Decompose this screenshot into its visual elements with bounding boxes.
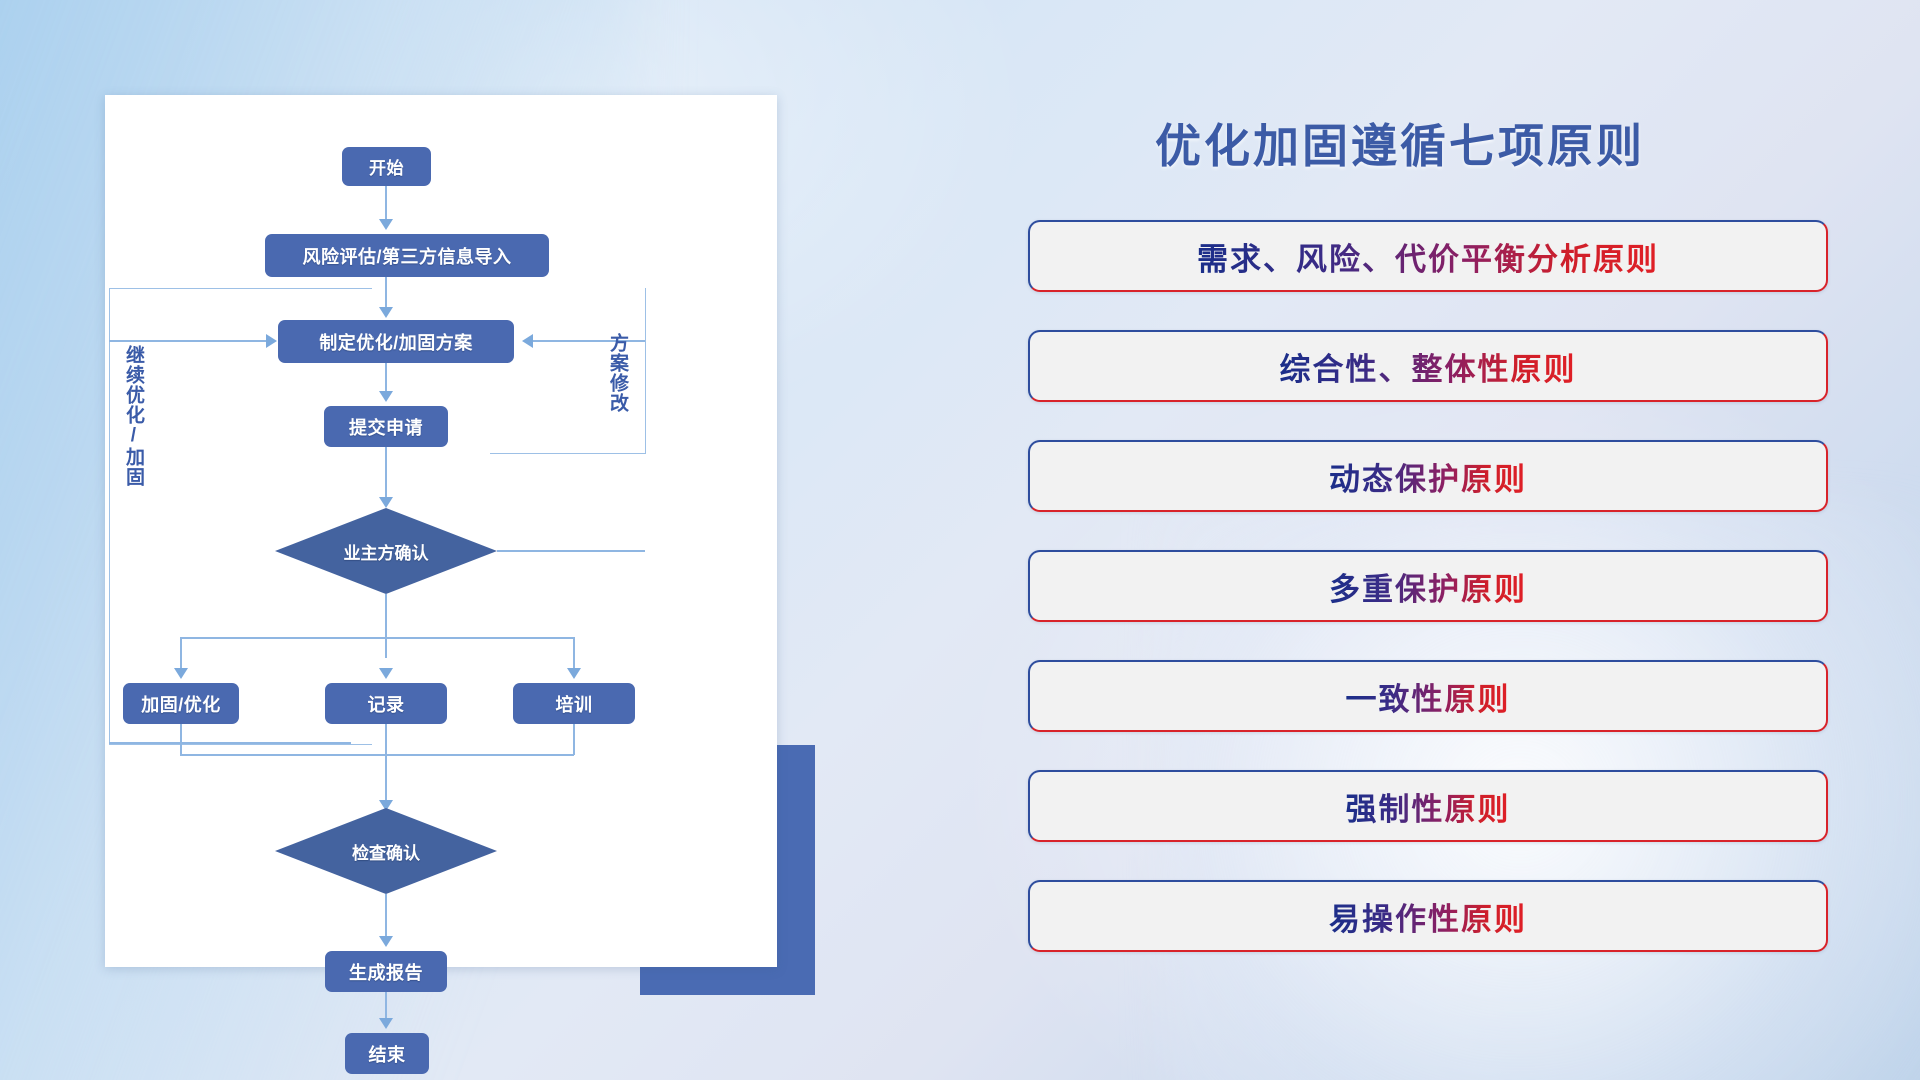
edge-merge-three-tasks: [180, 754, 574, 756]
principle-label: 易操作性原则: [1329, 894, 1527, 939]
node-record-label: 记录: [368, 691, 405, 717]
principle-item[interactable]: 动态保护原则: [1028, 440, 1828, 512]
node-submit-application-label: 提交申请: [349, 414, 423, 440]
node-submit-application[interactable]: 提交申请: [324, 406, 448, 447]
edge-split-three-tasks: [180, 637, 574, 639]
arrow-report-to-end: [379, 1018, 393, 1029]
edge-submit-to-confirm: [385, 447, 387, 501]
principle-label: 一致性原则: [1346, 674, 1511, 719]
slide-canvas: 开始 风险评估/第三方信息导入 制定优化/加固方案: [0, 0, 1920, 1080]
edge-merge-to-check: [385, 724, 387, 804]
arrow-to-record: [379, 668, 393, 679]
node-reinforce-optimize[interactable]: 加固/优化: [123, 683, 239, 724]
principle-item[interactable]: 易操作性原则: [1028, 880, 1828, 952]
arrow-to-reinforce: [174, 668, 188, 679]
edge-left-loop-into-plan: [109, 340, 266, 342]
arrow-risk-to-plan: [379, 307, 393, 318]
principles-list: 需求、风险、代价平衡分析原则 综合性、整体性原则 动态保护原则 多重保护原则 一…: [1028, 220, 1828, 990]
decision-owner-confirm[interactable]: 业主方确认: [275, 508, 497, 594]
edge-risk-to-plan: [385, 277, 387, 311]
edge-split-left-drop: [180, 637, 182, 672]
node-start[interactable]: 开始: [342, 147, 431, 186]
node-risk-assessment[interactable]: 风险评估/第三方信息导入: [265, 234, 549, 277]
principles-panel: 优化加固遵循七项原则 需求、风险、代价平衡分析原则 综合性、整体性原则 动态保护…: [1000, 100, 1860, 1000]
node-make-plan[interactable]: 制定优化/加固方案: [278, 320, 514, 363]
panel-title: 优化加固遵循七项原则: [1155, 110, 1645, 176]
arrow-check-to-report: [379, 936, 393, 947]
principle-label: 强制性原则: [1346, 784, 1511, 829]
edge-reinforce-down: [180, 724, 182, 755]
principle-item[interactable]: 多重保护原则: [1028, 550, 1828, 622]
node-make-plan-label: 制定优化/加固方案: [319, 329, 473, 355]
node-generate-report-label: 生成报告: [349, 959, 423, 985]
node-reinforce-optimize-label: 加固/优化: [141, 691, 221, 717]
flowchart-card: 开始 风险评估/第三方信息导入 制定优化/加固方案: [105, 95, 777, 967]
edge-training-down: [573, 724, 575, 755]
edge-label-plan-revision: 方案修改: [607, 333, 627, 413]
edge-check-to-report: [385, 894, 387, 940]
edge-confirm-to-right-loop: [497, 550, 645, 552]
arrow-left-loop-into-plan: [266, 334, 277, 348]
node-training-label: 培训: [556, 691, 593, 717]
edge-label-continue-optimize: 继续优化/加固: [123, 345, 143, 487]
arrow-start-to-risk: [379, 219, 393, 230]
decision-check-label: 检查确认: [275, 808, 497, 894]
edge-split-right-drop: [573, 637, 575, 672]
flowchart-diagram: 开始 风险评估/第三方信息导入 制定优化/加固方案: [105, 95, 777, 967]
principle-item[interactable]: 综合性、整体性原则: [1028, 330, 1828, 402]
node-record[interactable]: 记录: [325, 683, 447, 724]
arrow-plan-to-submit: [379, 391, 393, 402]
edge-start-to-risk: [385, 186, 387, 223]
principle-label: 综合性、整体性原则: [1280, 344, 1577, 389]
node-end-label: 结束: [369, 1041, 406, 1067]
edge-check-left-return: [109, 742, 351, 744]
principle-item[interactable]: 需求、风险、代价平衡分析原则: [1028, 220, 1828, 292]
arrow-right-loop-into-plan: [522, 334, 533, 348]
node-generate-report[interactable]: 生成报告: [325, 951, 447, 992]
node-training[interactable]: 培训: [513, 683, 635, 724]
decision-check[interactable]: 检查确认: [275, 808, 497, 894]
arrow-submit-to-confirm: [379, 497, 393, 508]
node-end[interactable]: 结束: [345, 1033, 429, 1074]
arrow-to-training: [567, 668, 581, 679]
principle-item[interactable]: 强制性原则: [1028, 770, 1828, 842]
principle-label: 需求、风险、代价平衡分析原则: [1197, 234, 1659, 279]
node-start-label: 开始: [369, 154, 404, 179]
edge-right-loop-into-plan: [533, 340, 645, 342]
decision-owner-confirm-label: 业主方确认: [275, 508, 497, 594]
principle-label: 动态保护原则: [1329, 454, 1527, 499]
node-risk-assessment-label: 风险评估/第三方信息导入: [303, 243, 512, 269]
edge-confirm-down: [385, 594, 387, 658]
principle-item[interactable]: 一致性原则: [1028, 660, 1828, 732]
principle-label: 多重保护原则: [1329, 564, 1527, 609]
